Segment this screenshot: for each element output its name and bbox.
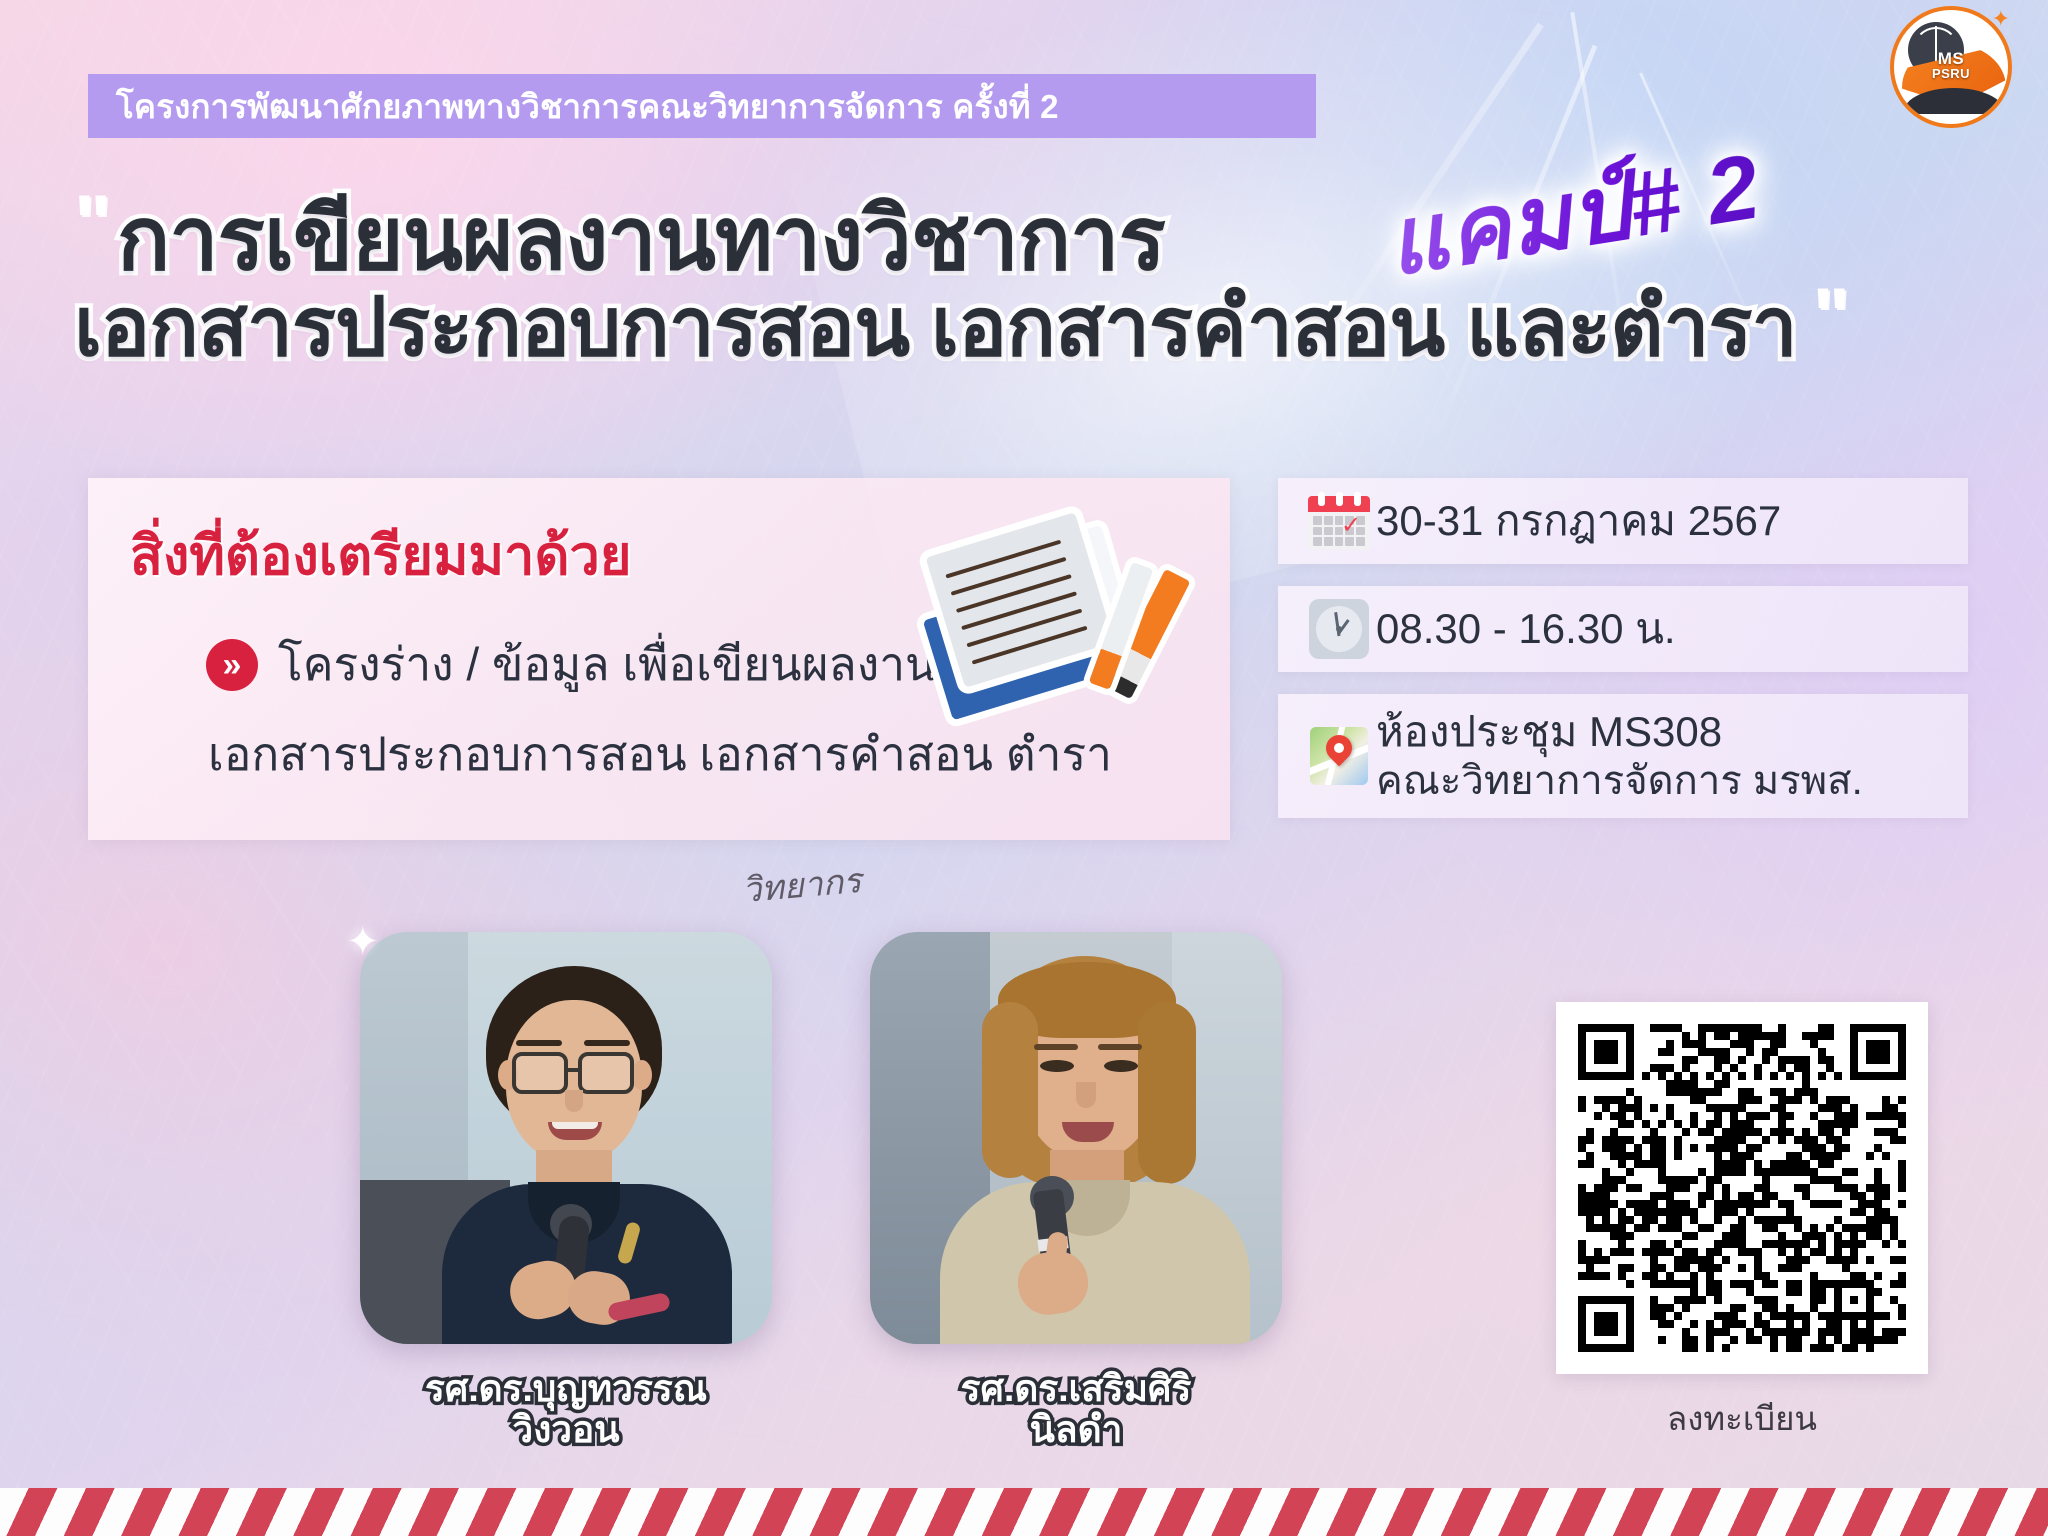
ribbon-label: โครงการพัฒนาศักยภาพทางวิชาการคณะวิทยาการ… — [88, 80, 1059, 133]
speaker-1-name-line1: รศ.ดร.บุญทวรรณ — [425, 1368, 707, 1409]
event-poster: MS PSRU ✦ โครงการพัฒนาศักยภาพทางวิชาการค… — [0, 0, 2048, 1536]
preparation-item-1-label: โครงร่าง / ข้อมูล เพื่อเขียนผลงาน — [278, 628, 936, 701]
quote-close: " — [1813, 285, 1846, 346]
preparation-item-2-label: เอกสารประกอบการสอน เอกสารคำสอน ตำรา — [208, 718, 1112, 791]
event-info-panel: ✓ 30-31 กรกฎาคม 2567 08.30 - 16.30 น. ห้… — [1278, 478, 1968, 840]
speaker-1-name: รศ.ดร.บุญทวรรณ วิงวอน — [360, 1368, 772, 1451]
info-row-date: ✓ 30-31 กรกฎาคม 2567 — [1278, 478, 1968, 564]
bottom-decorative-stripe — [0, 1488, 2048, 1536]
double-chevron-right-icon: » — [206, 639, 258, 691]
speaker-1-name-line2: วิงวอน — [512, 1409, 619, 1450]
registration-qr-code[interactable] — [1578, 1024, 1906, 1352]
event-time-label: 08.30 - 16.30 น. — [1376, 604, 1676, 654]
preparation-heading: สิ่งที่ต้องเตรียมมาด้วย — [130, 512, 632, 598]
poster-title-block: " การเขียนผลงานทางวิชาการ เอกสารประกอบกา… — [74, 192, 1974, 372]
quote-open: " — [74, 192, 107, 253]
speaker-portrait-2 — [870, 932, 1282, 1344]
info-row-location: ห้องประชุม MS308 คณะวิทยาการจัดการ มรพส. — [1278, 694, 1968, 818]
speaker-card-1: ✦ รศ.ดร.บุญทวรรณ วิงวอน — [360, 932, 772, 1451]
title-line-1: การเขียนผลงานทางวิชาการ — [117, 192, 1165, 285]
logo-text: MS PSRU — [1894, 50, 2008, 80]
title-line-2: เอกสารประกอบการสอน เอกสารคำสอน และตำรา — [74, 285, 1797, 372]
logo-line1: MS — [1894, 50, 2008, 67]
event-location-block: ห้องประชุม MS308 คณะวิทยาการจัดการ มรพส. — [1376, 707, 1863, 805]
speaker-2-name-line1: รศ.ดร.เสริมศิริ — [961, 1368, 1192, 1409]
speakers-section-label: วิทยากร — [740, 853, 864, 917]
speaker-2-name-line2: นิลดำ — [1030, 1409, 1123, 1450]
documents-and-pen-illustration — [918, 514, 1168, 704]
map-pin-icon — [1302, 727, 1376, 785]
ms-psru-logo: MS PSRU ✦ — [1890, 6, 2012, 128]
speaker-2-name: รศ.ดร.เสริมศิริ นิลดำ — [870, 1368, 1282, 1451]
qr-code-box[interactable] — [1556, 1002, 1928, 1374]
speaker-card-2: รศ.ดร.เสริมศิริ นิลดำ — [870, 932, 1282, 1451]
info-row-time: 08.30 - 16.30 น. — [1278, 586, 1968, 672]
registration-qr-block[interactable]: ลงทะเบียน — [1556, 1002, 1928, 1445]
qr-code-label: ลงทะเบียน — [1556, 1392, 1928, 1445]
speaker-portrait-1 — [360, 932, 772, 1344]
preparation-item-1: » โครงร่าง / ข้อมูล เพื่อเขียนผลงาน — [206, 628, 936, 701]
logo-line2: PSRU — [1894, 67, 2008, 80]
clock-icon — [1302, 599, 1376, 659]
event-date-label: 30-31 กรกฎาคม 2567 — [1376, 496, 1781, 546]
preparation-card: สิ่งที่ต้องเตรียมมาด้วย » โครงร่าง / ข้อ… — [88, 478, 1230, 840]
title-row-2: เอกสารประกอบการสอน เอกสารคำสอน และตำรา " — [74, 285, 1974, 372]
calendar-icon: ✓ — [1302, 492, 1376, 550]
event-location-line2: คณะวิทยาการจัดการ มรพส. — [1376, 757, 1863, 805]
event-location-line1: ห้องประชุม MS308 — [1376, 708, 1722, 755]
project-ribbon: โครงการพัฒนาศักยภาพทางวิชาการคณะวิทยาการ… — [88, 74, 1316, 138]
star-icon: ✦ — [1992, 8, 2010, 30]
